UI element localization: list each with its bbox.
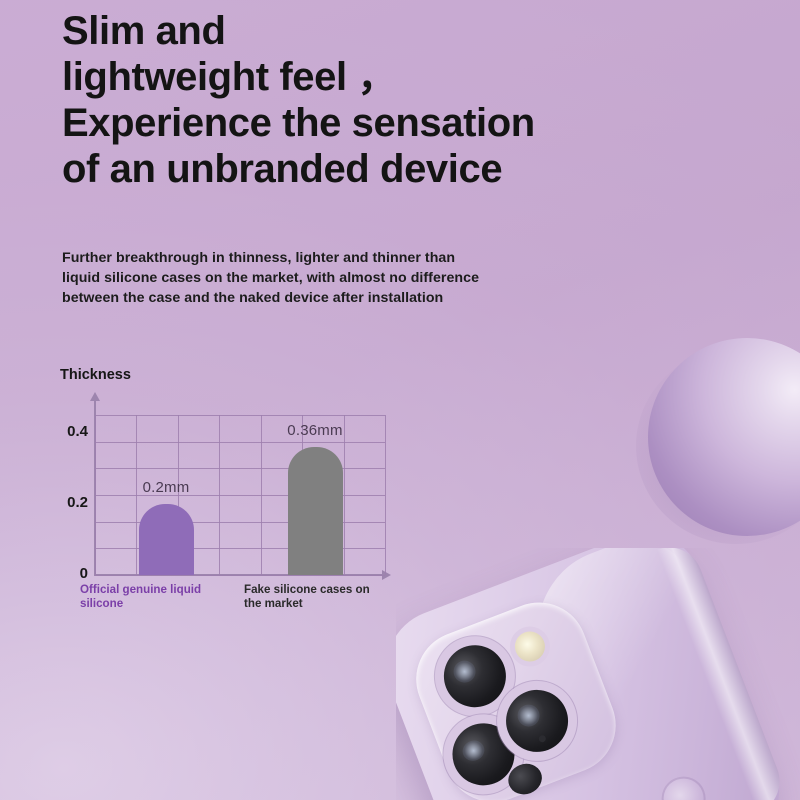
chart-gridline-horizontal xyxy=(95,442,385,443)
thickness-bar-chart: Thickness 00.20.4 0.2mm0.36mm Official g… xyxy=(0,0,420,640)
chart-bar xyxy=(139,504,194,575)
product-photo xyxy=(396,548,800,800)
chart-category-label: Fake silicone cases on the market xyxy=(244,583,370,611)
camera-flash-icon xyxy=(511,627,550,666)
chart-gridline-vertical xyxy=(219,415,220,575)
chart-bar-value-label: 0.2mm xyxy=(132,479,200,496)
case-button-cutout xyxy=(655,770,712,800)
chart-bar xyxy=(288,447,343,575)
chart-gridline-vertical xyxy=(344,415,345,575)
chart-gridline-vertical xyxy=(261,415,262,575)
phone-case-body xyxy=(396,548,796,800)
chart-gridline-horizontal xyxy=(95,575,385,576)
chart-y-axis-arrow xyxy=(90,392,100,401)
chart-gridline-vertical xyxy=(385,415,386,575)
chart-y-tick-label: 0.2 xyxy=(48,494,88,511)
chart-gridline-vertical xyxy=(95,415,96,575)
chart-axis-title: Thickness xyxy=(60,367,131,383)
lens-glint xyxy=(460,737,488,764)
chart-gridline-horizontal xyxy=(95,415,385,416)
chart-bar-value-label: 0.36mm xyxy=(281,422,349,439)
camera-lens-icon xyxy=(435,636,515,716)
chart-y-tick-label: 0 xyxy=(48,565,88,582)
lens-glint xyxy=(514,701,542,729)
chart-category-label: Official genuine liquid silicone xyxy=(80,583,201,611)
chart-y-tick-label: 0.4 xyxy=(48,423,88,440)
lens-glint xyxy=(450,657,478,685)
